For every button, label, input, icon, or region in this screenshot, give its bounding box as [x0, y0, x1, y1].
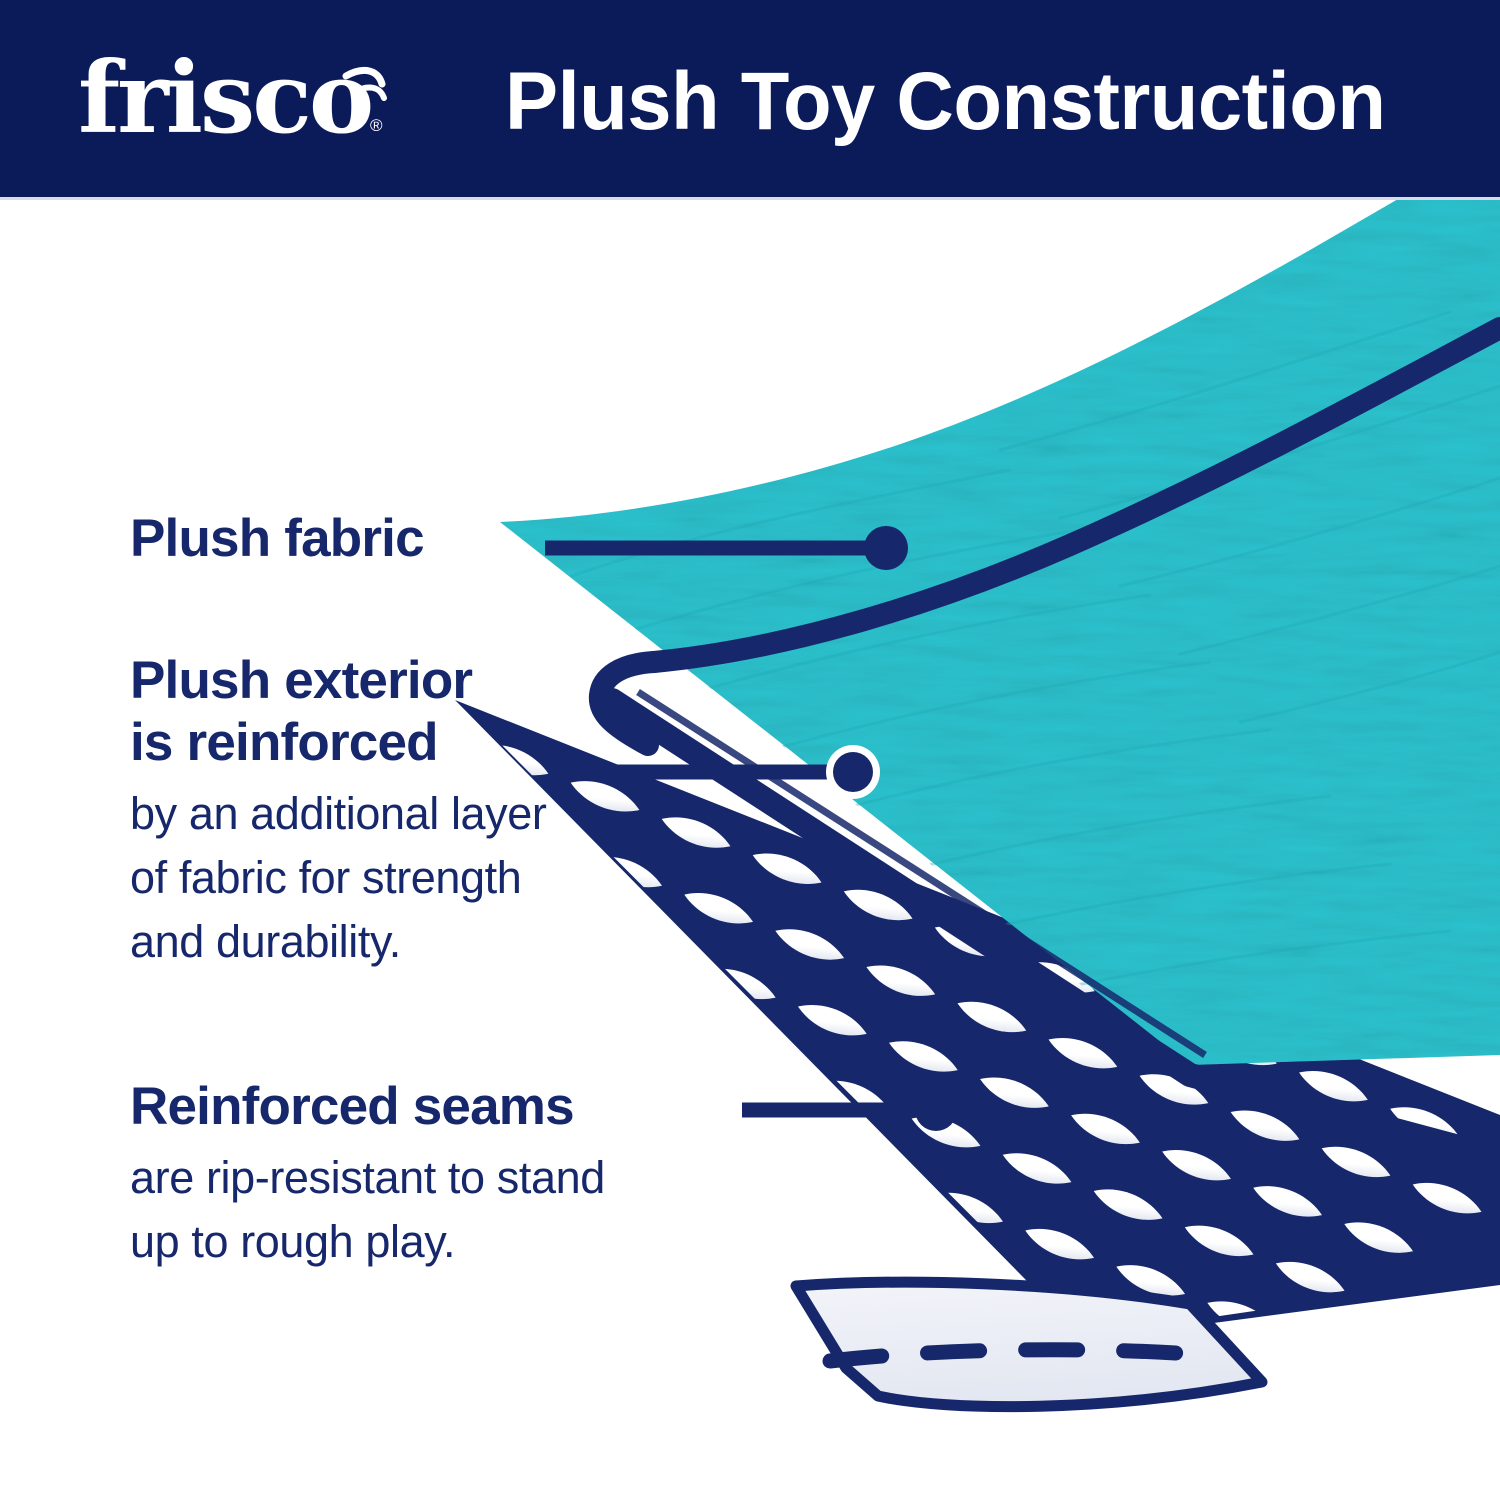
callout-reinforced-seams-body: are rip-resistant to stand up to rough p… — [130, 1146, 790, 1274]
frisco-logo: frisco ® — [78, 44, 388, 154]
callout-reinforced-seams: Reinforced seams are rip-resistant to st… — [130, 1076, 790, 1274]
callout-dot-reinforced-seams — [915, 1089, 957, 1131]
callout-plush-exterior: Plush exterior is reinforced by an addit… — [130, 650, 730, 974]
registered-trademark-icon: ® — [370, 116, 383, 136]
frisco-wordmark: frisco — [78, 44, 371, 154]
callout-reinforced-seams-heading: Reinforced seams — [130, 1076, 790, 1138]
infographic-page: frisco ® Plush Toy Construction — [0, 0, 1500, 1500]
callout-dot-plush-exterior — [833, 752, 873, 792]
seam-flap — [796, 1282, 1262, 1406]
callout-plush-exterior-heading: Plush exterior is reinforced — [130, 650, 730, 774]
callout-plush-fabric: Plush fabric — [130, 508, 560, 570]
callout-plush-exterior-body: by an additional layer of fabric for str… — [130, 782, 730, 974]
callout-plush-fabric-heading: Plush fabric — [130, 508, 560, 570]
header-bar: frisco ® Plush Toy Construction — [0, 0, 1500, 200]
page-title: Plush Toy Construction — [505, 42, 1378, 162]
callout-dot-plush-fabric — [864, 526, 908, 570]
